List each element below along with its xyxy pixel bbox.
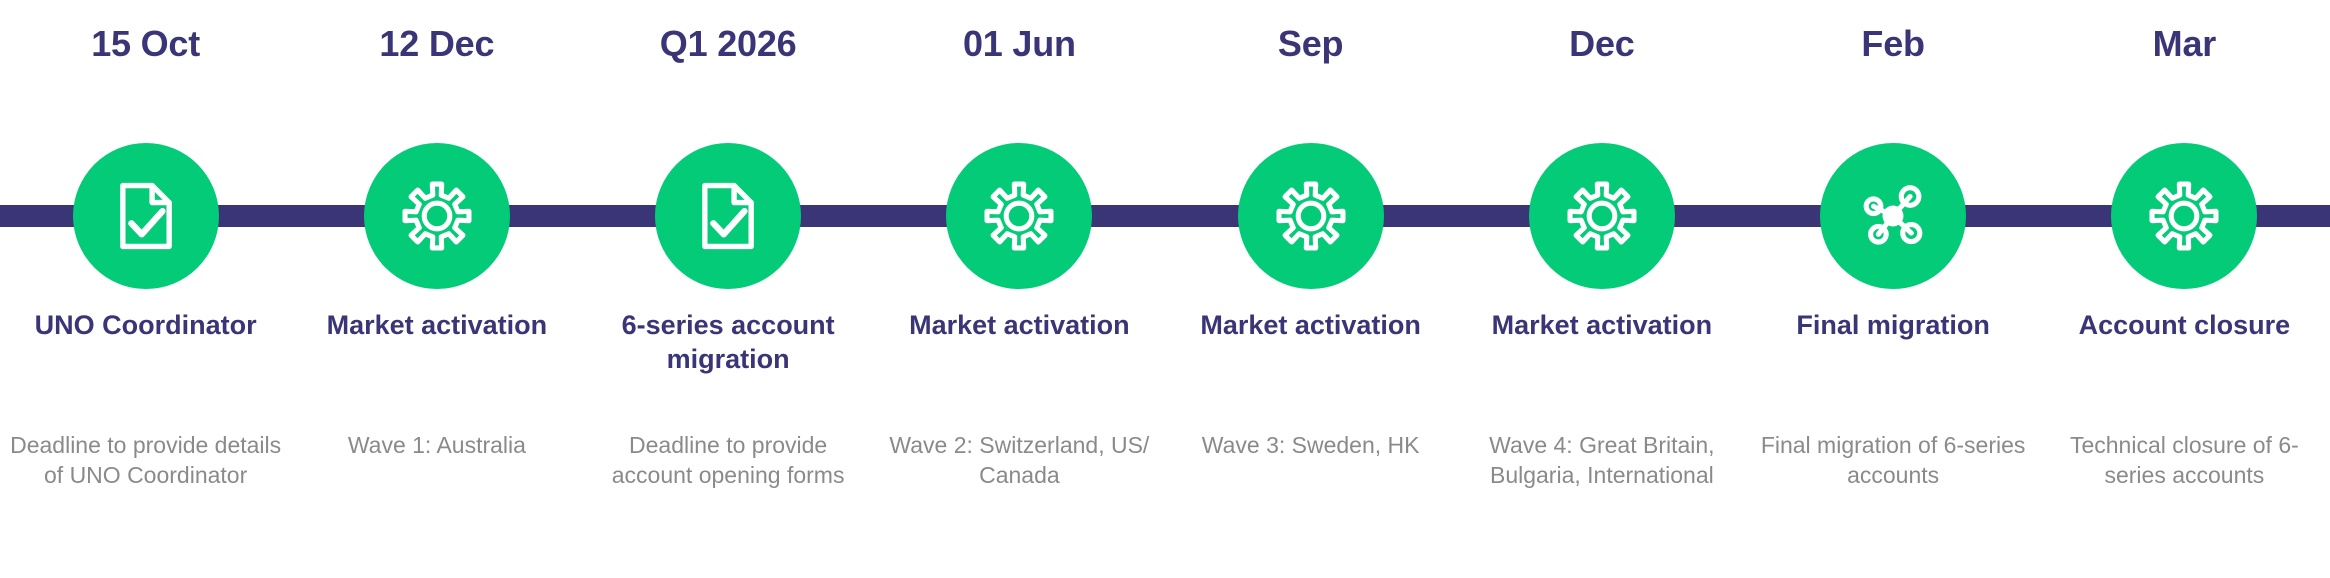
milestone-description: Wave 1: Australia bbox=[301, 430, 572, 460]
milestone-description: Wave 4: Great Britain, Bulgaria, Interna… bbox=[1466, 430, 1737, 490]
document-check-icon bbox=[689, 177, 767, 255]
milestone-title: UNO Coordinator bbox=[6, 308, 285, 342]
milestone-title: 6-series account migration bbox=[589, 308, 868, 376]
milestone-date: Dec bbox=[1456, 22, 1747, 66]
timeline-milestone[interactable]: FebFinal migrationFinal migration of 6-s… bbox=[1748, 0, 2039, 578]
timeline-milestone[interactable]: MarAccount closureTechnical closure of 6… bbox=[2039, 0, 2330, 578]
milestone-date: 15 Oct bbox=[0, 22, 291, 66]
network-nodes-icon bbox=[1854, 177, 1932, 255]
milestone-icon-badge[interactable] bbox=[1238, 143, 1384, 289]
gear-icon bbox=[1563, 177, 1641, 255]
milestone-title: Final migration bbox=[1754, 308, 2033, 342]
milestone-description: Wave 2: Switzerland, US/ Canada bbox=[884, 430, 1155, 490]
timeline-milestone-list: 15 OctUNO CoordinatorDeadline to provide… bbox=[0, 0, 2330, 578]
milestone-date: Mar bbox=[2039, 22, 2330, 66]
gear-icon bbox=[1272, 177, 1350, 255]
milestone-title: Market activation bbox=[880, 308, 1159, 342]
milestone-description: Deadline to provide account opening form… bbox=[593, 430, 864, 490]
milestone-title: Account closure bbox=[2045, 308, 2324, 342]
milestone-icon-badge[interactable] bbox=[1529, 143, 1675, 289]
timeline-milestone[interactable]: 15 OctUNO CoordinatorDeadline to provide… bbox=[0, 0, 291, 578]
timeline-infographic: 15 OctUNO CoordinatorDeadline to provide… bbox=[0, 0, 2330, 578]
milestone-icon-badge[interactable] bbox=[2111, 143, 2257, 289]
milestone-title: Market activation bbox=[1171, 308, 1450, 342]
milestone-icon-badge[interactable] bbox=[364, 143, 510, 289]
timeline-milestone[interactable]: 01 JunMarket activationWave 2: Switzerla… bbox=[874, 0, 1165, 578]
milestone-title: Market activation bbox=[297, 308, 576, 342]
milestone-icon-badge[interactable] bbox=[73, 143, 219, 289]
milestone-description: Deadline to provide details of UNO Coord… bbox=[10, 430, 281, 490]
document-check-icon bbox=[107, 177, 185, 255]
milestone-icon-badge[interactable] bbox=[1820, 143, 1966, 289]
milestone-date: Q1 2026 bbox=[583, 22, 874, 66]
milestone-description: Technical closure of 6-series accounts bbox=[2049, 430, 2320, 490]
milestone-date: Sep bbox=[1165, 22, 1456, 66]
gear-icon bbox=[398, 177, 476, 255]
timeline-milestone[interactable]: 12 DecMarket activationWave 1: Australia bbox=[291, 0, 582, 578]
milestone-title: Market activation bbox=[1462, 308, 1741, 342]
timeline-milestone[interactable]: DecMarket activationWave 4: Great Britai… bbox=[1456, 0, 1747, 578]
milestone-icon-badge[interactable] bbox=[655, 143, 801, 289]
gear-icon bbox=[980, 177, 1058, 255]
milestone-date: 01 Jun bbox=[874, 22, 1165, 66]
milestone-date: Feb bbox=[1748, 22, 2039, 66]
milestone-icon-badge[interactable] bbox=[946, 143, 1092, 289]
milestone-date: 12 Dec bbox=[291, 22, 582, 66]
milestone-description: Final migration of 6-series accounts bbox=[1758, 430, 2029, 490]
gear-icon bbox=[2145, 177, 2223, 255]
timeline-milestone[interactable]: Q1 20266-series account migrationDeadlin… bbox=[583, 0, 874, 578]
timeline-milestone[interactable]: SepMarket activationWave 3: Sweden, HK bbox=[1165, 0, 1456, 578]
milestone-description: Wave 3: Sweden, HK bbox=[1175, 430, 1446, 460]
